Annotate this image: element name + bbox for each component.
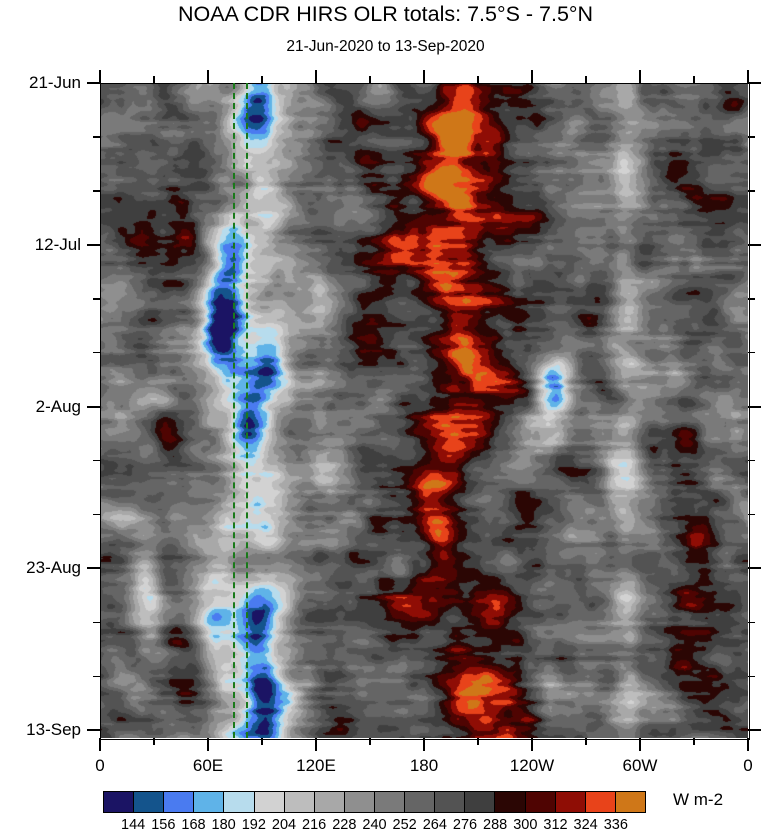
x-axis-label: 120W — [487, 756, 577, 776]
y-tick-minor — [748, 136, 755, 138]
colorbar-swatch[interactable] — [255, 792, 285, 812]
y-tick-minor — [748, 622, 755, 624]
x-axis-label: 0 — [703, 756, 771, 776]
y-tick-minor — [93, 190, 100, 192]
colorbar-tick-label: 336 — [594, 817, 638, 833]
y-tick-minor — [748, 298, 755, 300]
colorbar-swatch[interactable] — [465, 792, 495, 812]
x-axis-label: 60W — [595, 756, 685, 776]
colorbar-units-label: W m-2 — [673, 790, 723, 810]
y-tick-major — [87, 82, 100, 84]
y-axis-label: 21-Jun — [0, 73, 81, 93]
figure-root: NOAA CDR HIRS OLR totals: 7.5°S - 7.5°N … — [0, 0, 771, 835]
colorbar-swatch[interactable] — [224, 792, 254, 812]
colorbar-swatch[interactable] — [194, 792, 224, 812]
y-tick-major — [87, 406, 100, 408]
colorbar-swatch[interactable] — [495, 792, 525, 812]
y-tick-major — [748, 406, 761, 408]
y-tick-minor — [93, 514, 100, 516]
x-tick-major — [315, 70, 317, 83]
x-tick-major — [531, 738, 533, 751]
olr-heatmap-canvas — [100, 83, 748, 738]
colorbar-swatch[interactable] — [164, 792, 194, 812]
y-tick-minor — [93, 352, 100, 354]
x-tick-major — [99, 738, 101, 751]
y-axis-label: 13-Sep — [0, 720, 81, 740]
x-tick-major — [531, 70, 533, 83]
y-tick-minor — [93, 460, 100, 462]
x-tick-minor — [153, 738, 155, 745]
chart-title: NOAA CDR HIRS OLR totals: 7.5°S - 7.5°N — [0, 2, 771, 27]
x-axis-label: 180 — [379, 756, 469, 776]
colorbar[interactable] — [103, 791, 646, 813]
y-tick-minor — [93, 136, 100, 138]
x-tick-minor — [369, 738, 371, 745]
x-tick-minor — [477, 76, 479, 83]
colorbar-swatch[interactable] — [285, 792, 315, 812]
x-tick-major — [315, 738, 317, 751]
colorbar-swatch[interactable] — [526, 792, 556, 812]
y-tick-major — [87, 729, 100, 731]
x-tick-minor — [369, 76, 371, 83]
x-tick-minor — [477, 738, 479, 745]
chart-subtitle: 21-Jun-2020 to 13-Sep-2020 — [0, 38, 771, 56]
y-tick-major — [87, 567, 100, 569]
y-tick-minor — [748, 352, 755, 354]
x-tick-minor — [585, 738, 587, 745]
y-axis-label: 12-Jul — [0, 235, 81, 255]
y-axis-label: 2-Aug — [0, 397, 81, 417]
x-tick-major — [423, 70, 425, 83]
y-tick-minor — [93, 676, 100, 678]
y-tick-major — [87, 244, 100, 246]
y-axis-label: 23-Aug — [0, 558, 81, 578]
y-tick-major — [748, 567, 761, 569]
x-tick-minor — [261, 738, 263, 745]
x-tick-major — [747, 738, 749, 751]
x-axis-label: 120E — [271, 756, 361, 776]
x-tick-minor — [585, 76, 587, 83]
colorbar-swatch[interactable] — [556, 792, 586, 812]
x-axis-label: 0 — [55, 756, 145, 776]
x-tick-major — [639, 738, 641, 751]
colorbar-swatch[interactable] — [405, 792, 435, 812]
colorbar-swatch[interactable] — [315, 792, 345, 812]
x-tick-minor — [153, 76, 155, 83]
y-tick-minor — [748, 676, 755, 678]
colorbar-swatch[interactable] — [435, 792, 465, 812]
y-tick-minor — [93, 298, 100, 300]
colorbar-swatch[interactable] — [616, 792, 645, 812]
x-tick-minor — [693, 738, 695, 745]
x-tick-major — [207, 70, 209, 83]
x-tick-major — [207, 738, 209, 751]
y-tick-major — [748, 244, 761, 246]
colorbar-swatch[interactable] — [586, 792, 616, 812]
colorbar-swatch[interactable] — [345, 792, 375, 812]
colorbar-swatch[interactable] — [104, 792, 134, 812]
colorbar-swatch[interactable] — [375, 792, 405, 812]
y-tick-minor — [748, 460, 755, 462]
x-tick-major — [639, 70, 641, 83]
y-tick-major — [748, 729, 761, 731]
y-tick-minor — [748, 514, 755, 516]
x-tick-minor — [693, 76, 695, 83]
x-tick-major — [423, 738, 425, 751]
x-axis-label: 60E — [163, 756, 253, 776]
hovmoller-plot — [100, 83, 748, 738]
y-tick-major — [748, 82, 761, 84]
y-tick-minor — [93, 622, 100, 624]
y-tick-minor — [748, 190, 755, 192]
colorbar-swatch[interactable] — [134, 792, 164, 812]
x-tick-minor — [261, 76, 263, 83]
